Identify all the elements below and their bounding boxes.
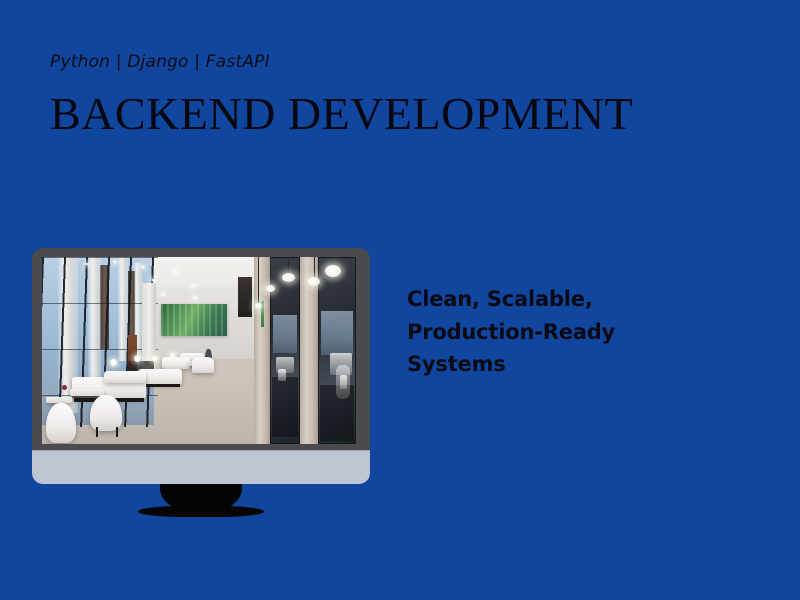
tagline-line: Clean, Scalable, (407, 283, 687, 316)
scene-ceiling-light (152, 279, 154, 281)
scene-pendant-cord (270, 257, 271, 287)
scene-ceiling-light (162, 293, 164, 295)
scene-table-lamp (110, 359, 117, 366)
tagline-line: Systems (407, 348, 687, 381)
scene-wall-panel (238, 277, 252, 317)
desktop-monitor (32, 248, 370, 484)
scene-display-object (278, 369, 286, 381)
slide-canvas: Python | Django | FastAPI BACKEND DEVELO… (0, 0, 800, 600)
scene-ceiling-light (142, 266, 144, 268)
scene-pendant-cord (314, 257, 315, 279)
scene-green-artwork (161, 304, 227, 336)
scene-table-lamp (134, 355, 141, 362)
scene-pendant-light (266, 285, 275, 292)
tagline-line: Production-Ready (407, 316, 687, 349)
scene-coffee-table (70, 389, 104, 396)
scene-glass-reflection (272, 377, 298, 437)
scene-armchair (46, 403, 76, 443)
monitor-screen (42, 257, 356, 444)
scene-pendant-light (325, 265, 341, 277)
scene-sofa (162, 357, 190, 369)
monitor-chin (32, 450, 370, 484)
slide-eyebrow: Python | Django | FastAPI (50, 52, 270, 72)
scene-pendant-light (255, 303, 262, 309)
monitor-stand-foot (138, 506, 264, 517)
scene-ceiling-light (86, 263, 88, 265)
scene-armchair (90, 395, 122, 431)
scene-ceiling-light (174, 271, 176, 273)
scene-ceiling-light (192, 285, 194, 287)
monitor-stand (138, 484, 264, 518)
scene-flower (62, 385, 67, 390)
scene-display-object (340, 375, 347, 389)
scene-pendant-light (308, 277, 320, 286)
scene-lounge-chair (192, 357, 214, 373)
scene-glass-reflection (273, 315, 297, 353)
scene-chair-leg (96, 427, 98, 437)
scene-ceiling-light (194, 297, 196, 299)
scene-pendant-light (282, 273, 295, 282)
monitor-bezel (32, 248, 370, 450)
scene-table-lamp (152, 356, 158, 362)
scene-sofa-base (140, 384, 180, 387)
scene-ceiling-light (114, 261, 116, 263)
tagline-block: Clean, Scalable, Production-Ready System… (407, 283, 687, 381)
scene-pendant-cord (258, 257, 259, 305)
scene-glass-reflection (321, 311, 353, 355)
scene-table-lamp (170, 353, 175, 358)
scene-chair-leg (116, 427, 118, 437)
page-title: BACKEND DEVELOPMENT (50, 90, 633, 138)
scene-sofa-back (104, 371, 146, 383)
